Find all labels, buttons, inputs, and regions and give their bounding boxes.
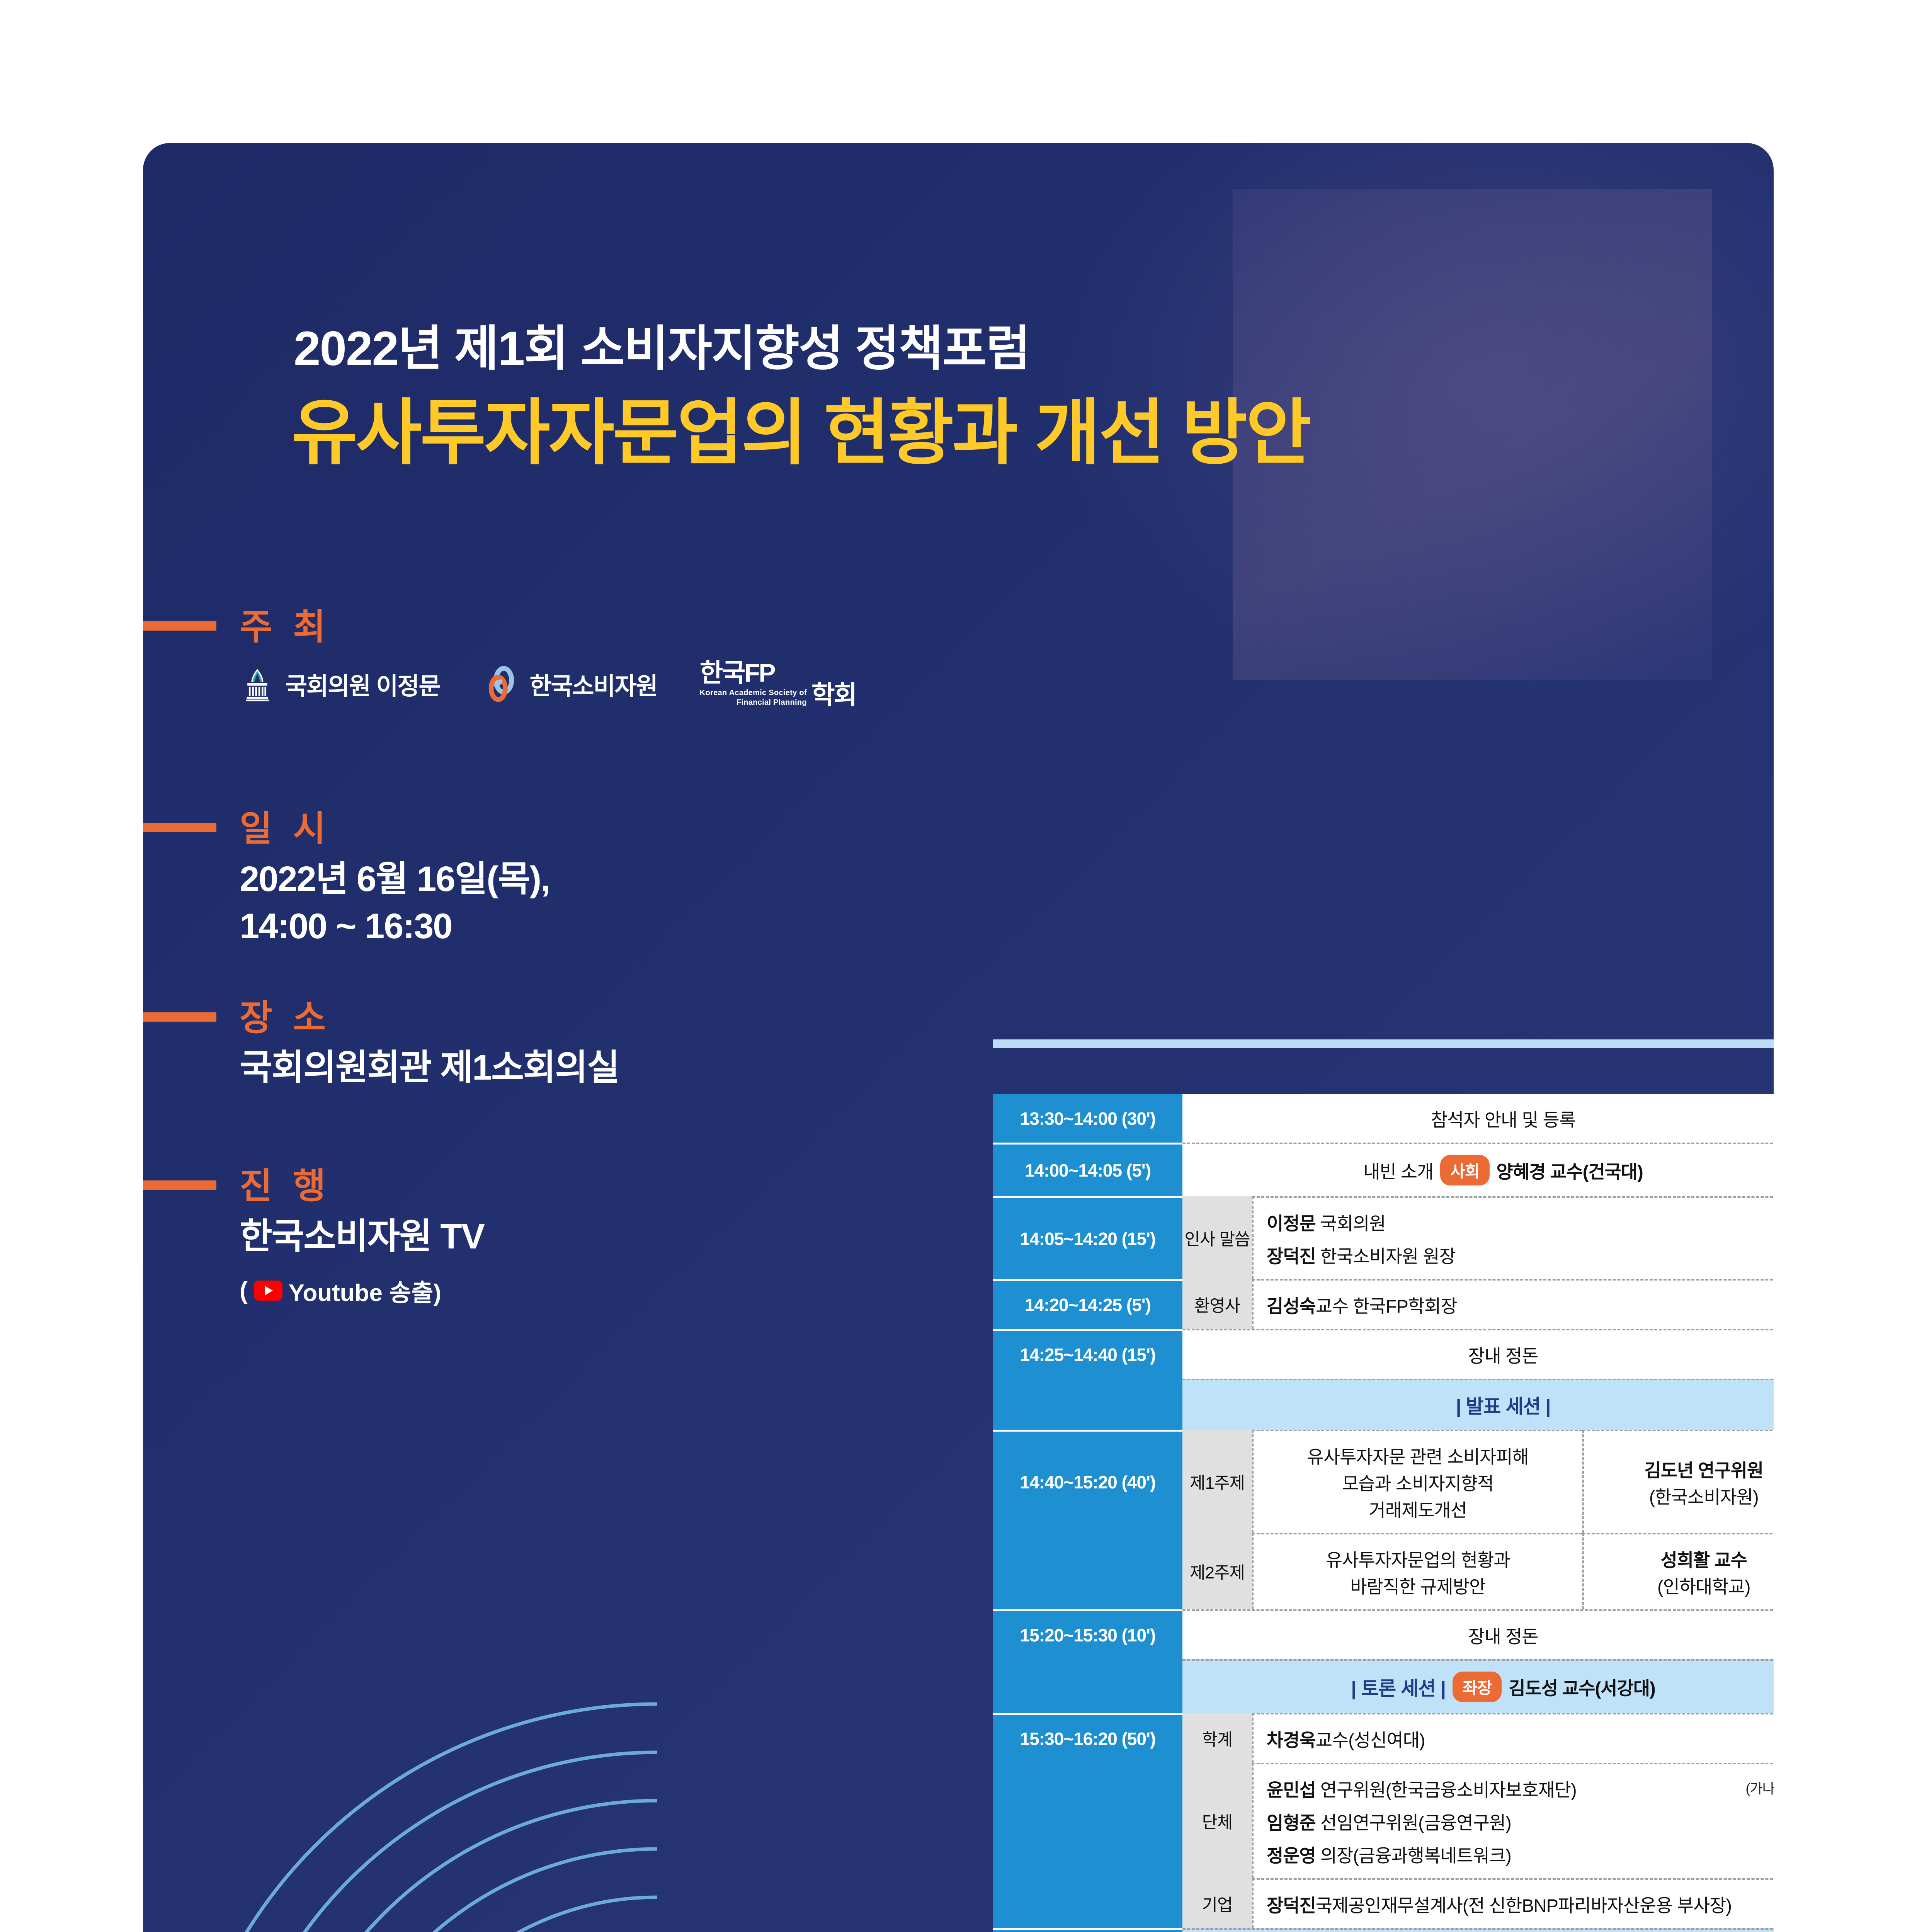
host-key: 주 최 [240,598,331,650]
schedule-row: | 발표 세션 | [993,1379,1774,1430]
fp-logo-english: Korean Academic Society of Financial Pla… [700,688,807,707]
organizer-fp-society: 한국FP Korean Academic Society of Financia… [700,661,856,707]
schedule-row: 14:40~15:20 (40') 제1주제 유사투자자문 관련 소비자피해모습… [993,1430,1774,1533]
schedule-cell-text: 참석자 안내 및 등록 [1182,1094,1774,1143]
schedule-topic-label: 제2주제 [1182,1533,1252,1609]
assembly-building-icon [240,666,275,702]
poster-subtitle: 2022년 제1회 소비자지향성 정책포럼 [294,309,1030,379]
schedule-row: 단체 (가나다순)윤민섭 연구위원(한국금융소비자보호재단)임형준 선임연구위원… [993,1763,1774,1878]
schedule-section-header: | 토론 세션 | 좌장 김도성 교수(서강대) [1182,1659,1774,1713]
schedule-cell-text: 김성숙 교수 한국FP학회장 [1252,1279,1774,1329]
schedule-row: 15:30~16:20 (50') 학계 차경욱 교수(성신여대) [993,1713,1774,1763]
schedule-panelist: 임형준 선임연구위원(금융연구원) [1267,1808,1511,1835]
schedule-speaker: 김도년 연구위원 (한국소비자원) [1582,1430,1774,1533]
schedule-time [993,1659,1182,1713]
speaker-name: 김도년 연구위원 [1644,1460,1763,1481]
schedule-row-label: 인사 말씀 [1182,1196,1252,1279]
schedule-row: 14:20~14:25 (5') 환영사 김성숙 교수 한국FP학회장 [993,1279,1774,1329]
fp-eng-line1: Korean Academic Society of [700,689,807,697]
schedule-panelist-group: (가나다순)윤민섭 연구위원(한국금융소비자보호재단)임형준 선임연구위원(금융… [1252,1763,1774,1878]
fp-eng-line2: Financial Planning [737,698,807,707]
organizer-name: 한국소비자원 [530,667,657,701]
schedule-row: 제2주제 유사투자자문업의 현황과바람직한 규제방안 성희활 교수 (인하대학교… [993,1533,1774,1609]
schedule-row: 14:25~14:40 (15') 장내 정돈 [993,1329,1774,1379]
schedule-panelist: 윤민섭 연구위원(한국금융소비자보호재단) [1267,1775,1577,1802]
schedule-time: 14:20~14:25 (5') [993,1279,1182,1329]
organizer-kca: 한국소비자원 [483,665,657,702]
schedule-panel-label: 학계 [1182,1713,1252,1763]
schedule-time: 16:20~16:30 (10') [993,1928,1182,1932]
schedule-time [993,1763,1182,1878]
schedule-time: 15:20~15:30 (10') [993,1609,1182,1659]
schedule-cell-text: 장내 정돈 [1182,1329,1774,1379]
run-key: 진 행 [240,1157,331,1209]
broadcast-label: Youtube 송출) [289,1273,441,1308]
broadcast-line: ( Youtube 송출) [240,1273,441,1308]
place-value: 국회의원회관 제1소회의실 [240,1039,619,1090]
organizer-name: 국회의원 이정문 [285,667,440,701]
schedule-time: 14:25~14:40 (15') [993,1329,1182,1379]
schedule-topic-text: 유사투자자문 관련 소비자피해모습과 소비자지향적거래제도개선 [1252,1430,1582,1533]
place-key: 장 소 [240,989,331,1041]
speaker-org: (한국소비자원) [1649,1487,1759,1507]
schedule-time: 14:00~14:05 (5') [993,1143,1182,1196]
schedule-row: | 토론 세션 | 좌장 김도성 교수(서강대) [993,1659,1774,1713]
schedule-time: 14:40~15:20 (40') [993,1430,1182,1533]
datetime-line2: 14:00 ~ 16:30 [240,906,452,947]
schedule-cell-text: 이정문 국회의원장덕진 한국소비자원 원장 [1252,1196,1774,1279]
schedule-time [993,1878,1182,1928]
schedule-panelist: 차경욱 교수(성신여대) [1252,1713,1774,1763]
schedule-cell-text: 내빈 소개 사회 양혜경 교수(건국대) [1182,1143,1774,1196]
schedule-time: 15:30~16:20 (50') [993,1713,1182,1763]
schedule-time: 14:05~14:20 (15') [993,1196,1182,1279]
schedule-time [993,1379,1182,1430]
schedule-cell-text: 장내 정돈 [1182,1609,1774,1659]
mc-person: 양혜경 교수(건국대) [1497,1157,1643,1184]
schedule-topic-text: 유사투자자문업의 현황과바람직한 규제방안 [1252,1533,1582,1609]
place-dash-marker [143,1012,216,1022]
poster-card: 2022년 제1회 소비자지향성 정책포럼 유사투자자문업의 현황과 개선 방안… [143,143,1774,1932]
run-value: 한국소비자원 TV [240,1207,484,1259]
youtube-icon [254,1281,282,1301]
schedule-panel-label: 단체 [1182,1763,1252,1878]
schedule-panelist: 장덕진 국제공인재무설계사(전 신한BNP파리바자산운용 부사장) [1252,1878,1774,1928]
datetime-dash-marker [143,823,216,832]
schedule-row: 15:20~15:30 (10') 장내 정돈 [993,1609,1774,1659]
schedule-panelist: 정운영 의장(금융과행복네트워크) [1267,1841,1511,1867]
schedule-row: 14:00~14:05 (5') 내빈 소개 사회 양혜경 교수(건국대) [993,1143,1774,1196]
schedule-row: 16:20~16:30 (10') 마무리 및 폐회 [993,1928,1774,1932]
host-dash-marker [143,621,216,631]
mc-badge: 사회 [1440,1155,1489,1185]
speaker-org: (인하대학교) [1657,1577,1750,1597]
broadcast-paren-open: ( [240,1277,248,1304]
schedule-table: 13:30~14:00 (30') 참석자 안내 및 등록 14:00~14:0… [993,1039,1774,1932]
poster-title: 유사투자자문업의 현황과 개선 방안 [292,375,1310,478]
panel-order-note: (가나다순) [1746,1777,1774,1798]
datetime-key: 일 시 [240,800,331,851]
fp-logo-top: 한국FP [700,661,775,685]
decorative-arcs [143,1650,947,1932]
schedule-rows: 13:30~14:00 (30') 참석자 안내 및 등록 14:00~14:0… [993,1094,1774,1932]
schedule-row: 기업 장덕진 국제공인재무설계사(전 신한BNP파리바자산운용 부사장) [993,1878,1774,1928]
schedule-row: 13:30~14:00 (30') 참석자 안내 및 등록 [993,1094,1774,1143]
chair-badge: 좌장 [1453,1672,1502,1702]
schedule-person-line: 이정문 국회의원 [1267,1209,1386,1235]
schedule-section-header: | 발표 세션 | [1182,1379,1774,1430]
schedule-panel-label: 기업 [1182,1878,1252,1928]
fp-logo-bottom: 학회 [811,683,856,707]
schedule-cell-text: 마무리 및 폐회 [1182,1928,1774,1932]
organizer-assembly: 국회의원 이정문 [240,666,440,702]
schedule-person-line: 장덕진 한국소비자원 원장 [1267,1242,1456,1268]
chair-person: 김도성 교수(서강대) [1509,1673,1655,1700]
speaker-name: 성희활 교수 [1661,1550,1747,1570]
schedule-topic-label: 제1주제 [1182,1430,1252,1533]
datetime-line1: 2022년 6월 16일(목), [240,850,550,901]
schedule-time [993,1533,1182,1609]
organizer-logo-row: 국회의원 이정문 한국소비자원 한국FP Korean Academic Soc… [240,661,856,707]
kca-loop-icon [483,665,520,702]
schedule-row-label: 환영사 [1182,1279,1252,1329]
schedule-time: 13:30~14:00 (30') [993,1094,1182,1143]
schedule-speaker: 성희활 교수 (인하대학교) [1582,1533,1774,1609]
schedule-top-rule [993,1039,1774,1048]
schedule-row: 14:05~14:20 (15') 인사 말씀 이정문 국회의원장덕진 한국소비… [993,1196,1774,1279]
run-dash-marker [143,1180,216,1190]
